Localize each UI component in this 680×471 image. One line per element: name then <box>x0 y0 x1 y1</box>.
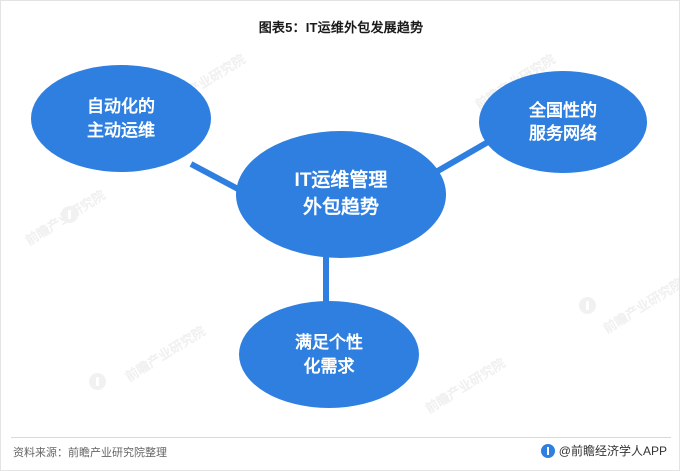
diagram-node-network-label: 全国性的 服务网络 <box>529 99 597 146</box>
diagram-node-center[interactable]: IT运维管理 外包趋势 <box>236 131 446 258</box>
diagram-node-center-label: IT运维管理 外包趋势 <box>295 168 388 220</box>
diagram-node-auto[interactable]: 自动化的 主动运维 <box>31 65 211 172</box>
diagram-node-auto-label: 自动化的 主动运维 <box>87 95 155 142</box>
source-note: 资料来源：前瞻产业研究院整理 <box>13 444 167 460</box>
diagram-node-network[interactable]: 全国性的 服务网络 <box>479 71 647 173</box>
diagram-node-custom[interactable]: 满足个性 化需求 <box>239 301 419 408</box>
page-title: 图表5：IT运维外包发展趋势 <box>1 17 680 36</box>
brand-credit: @前瞻经济学人APP <box>541 442 667 459</box>
diagram-page: 图表5：IT运维外包发展趋势 前瞻产业研究院 前瞻产业研究院 前瞻产业研究院 前… <box>0 0 680 471</box>
diagram-node-custom-label: 满足个性 化需求 <box>295 331 363 378</box>
brand-logo-icon <box>541 444 555 458</box>
diagram-canvas: 自动化的 主动运维 全国性的 服务网络 IT运维管理 外包趋势 满足个性 化需求 <box>1 43 680 423</box>
brand-credit-label: @前瞻经济学人APP <box>559 442 667 459</box>
footer-divider <box>11 437 671 438</box>
